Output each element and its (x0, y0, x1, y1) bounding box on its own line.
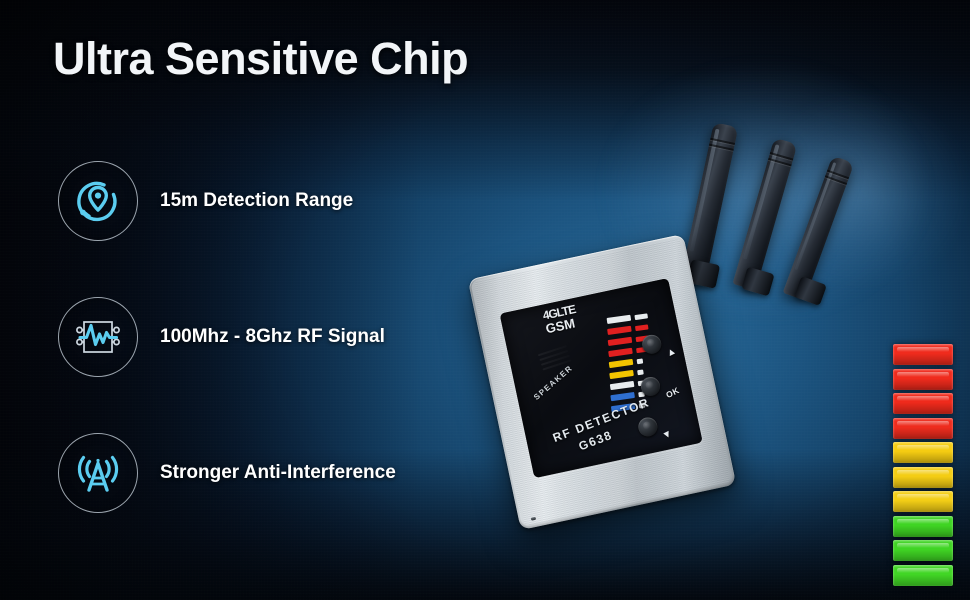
feature-label: 15m Detection Range (160, 190, 353, 212)
feature-label: 100Mhz - 8Ghz RF Signal (160, 326, 385, 348)
location-radar-icon (58, 161, 138, 241)
device-front-panel: 4GLTE GSM SPEAKER (500, 278, 703, 478)
signal-led-segment (893, 491, 953, 512)
signal-led-segment (893, 540, 953, 561)
feature-item-anti-interference: Stronger Anti-Interference (58, 433, 396, 513)
signal-led-segment (893, 418, 953, 439)
feature-item-detection-range: 15m Detection Range (58, 161, 353, 241)
feature-label: Stronger Anti-Interference (160, 462, 396, 484)
signal-led-segment (893, 516, 953, 537)
signal-led-segment (893, 565, 953, 586)
signal-led-segment (893, 369, 953, 390)
signal-level-bargraph (893, 344, 953, 586)
signal-led-segment (893, 344, 953, 365)
down-button-label: ▼ (661, 428, 675, 442)
antenna-tower-icon (58, 433, 138, 513)
waveform-chip-icon (58, 297, 138, 377)
feature-item-rf-signal: 100Mhz - 8Ghz RF Signal (58, 297, 385, 377)
product-feature-banner: Ultra Sensitive Chip 15m Detection Range (0, 0, 970, 600)
signal-led-segment (893, 393, 953, 414)
page-title: Ultra Sensitive Chip (53, 33, 468, 85)
signal-led-segment (893, 467, 953, 488)
signal-led-segment (893, 442, 953, 463)
brand-logo: 4GLTE GSM (542, 304, 579, 335)
